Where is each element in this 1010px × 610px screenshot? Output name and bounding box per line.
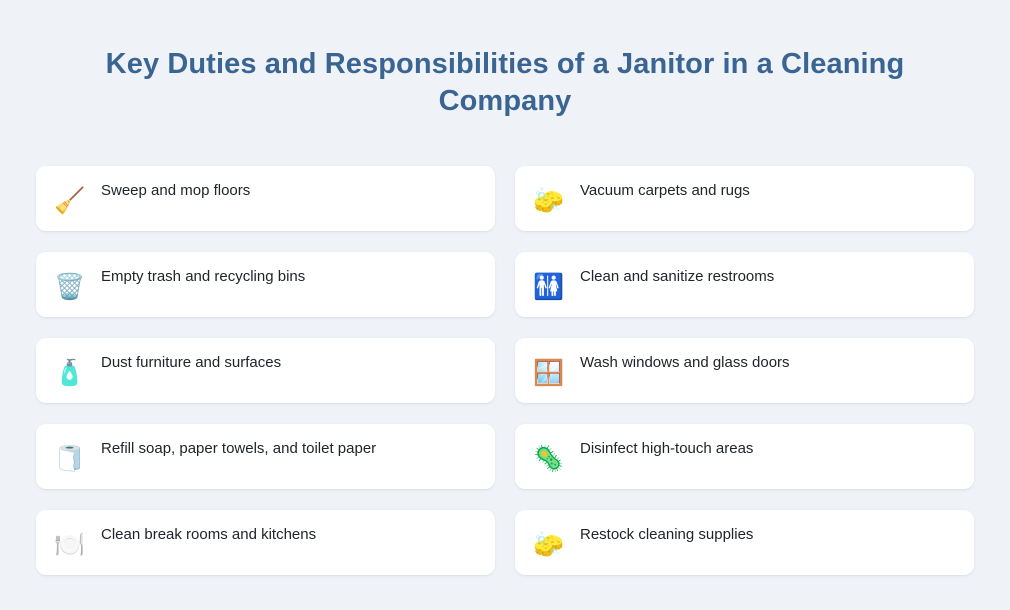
plate-fork-knife-icon: 🍽️ [52,526,88,566]
duty-card-label: Empty trash and recycling bins [101,267,305,287]
duty-card[interactable]: 🚻Clean and sanitize restrooms [515,252,974,317]
duty-card-label: Disinfect high-touch areas [580,439,753,459]
duty-card-label: Clean break rooms and kitchens [101,525,316,545]
duty-card[interactable]: 🦠Disinfect high-touch areas [515,424,974,489]
duty-card[interactable]: 🧹Sweep and mop floors [36,166,495,231]
duty-card[interactable]: 🧴Dust furniture and surfaces [36,338,495,403]
duty-card[interactable]: 🗑️Empty trash and recycling bins [36,252,495,317]
infographic-page: Key Duties and Responsibilities of a Jan… [0,0,1010,610]
duty-card-label: Restock cleaning supplies [580,525,753,545]
orange-sponge-icon: 🧽 [531,526,567,566]
duty-card[interactable]: 🪟Wash windows and glass doors [515,338,974,403]
duties-card-grid: 🧹Sweep and mop floors🧽Vacuum carpets and… [36,166,974,575]
duty-card-label: Refill soap, paper towels, and toilet pa… [101,439,376,459]
window-icon: 🪟 [531,354,567,394]
wastebasket-icon: 🗑️ [52,268,88,308]
duty-card-label: Sweep and mop floors [101,181,250,201]
duty-card[interactable]: 🧻Refill soap, paper towels, and toilet p… [36,424,495,489]
duty-card[interactable]: 🧽Vacuum carpets and rugs [515,166,974,231]
restroom-sign-icon: 🚻 [531,268,567,308]
duty-card-label: Vacuum carpets and rugs [580,181,750,201]
duty-card-label: Wash windows and glass doors [580,353,790,373]
pink-sponge-icon: 🧽 [531,182,567,222]
microbe-icon: 🦠 [531,440,567,480]
duty-card-label: Clean and sanitize restrooms [580,267,774,287]
duty-card[interactable]: 🍽️Clean break rooms and kitchens [36,510,495,575]
lotion-bottle-icon: 🧴 [52,354,88,394]
page-title: Key Duties and Responsibilities of a Jan… [0,0,1010,120]
duty-card-label: Dust furniture and surfaces [101,353,281,373]
broom-icon: 🧹 [52,182,88,222]
duty-card[interactable]: 🧽Restock cleaning supplies [515,510,974,575]
toilet-paper-icon: 🧻 [52,440,88,480]
